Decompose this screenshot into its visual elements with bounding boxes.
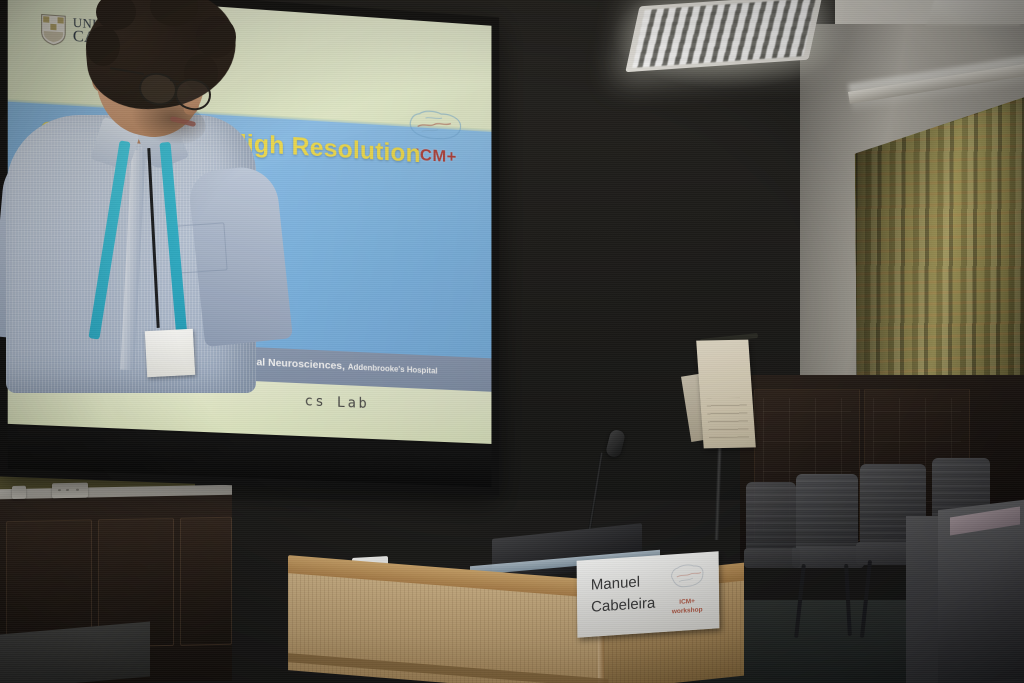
- presentation-photo: UNIVERSITY OF CAMBRIDGE ICM+ CENTER-TB: [0, 0, 1024, 683]
- flipchart-easel-icon: [696, 340, 756, 449]
- flipchart-writing: [706, 398, 749, 439]
- wall-plate: [12, 486, 26, 499]
- ceiling-light-secondary: [926, 0, 1024, 26]
- placard-name-text: Manuel Cabeleira: [591, 571, 656, 619]
- cambridge-crest-icon: [40, 13, 66, 46]
- chair[interactable]: [792, 474, 866, 654]
- footer-lab-text: cs Lab: [304, 393, 369, 412]
- icm-workshop-line-2: workshop: [663, 606, 711, 617]
- shirt-pocket: [174, 222, 227, 273]
- name-badge-icon: [145, 329, 195, 377]
- name-placard: Manuel Cabeleira ICM+ workshop: [577, 551, 720, 637]
- wainscot-panel: [180, 517, 232, 646]
- light-louvre-grille: [632, 0, 815, 68]
- placard-last-name: Cabeleira: [591, 592, 655, 618]
- power-socket: [52, 483, 88, 499]
- chair[interactable]: [744, 482, 800, 642]
- icm-workshop-brain-icon: [669, 563, 705, 593]
- icm-workshop-logo: ICM+ workshop: [663, 563, 712, 617]
